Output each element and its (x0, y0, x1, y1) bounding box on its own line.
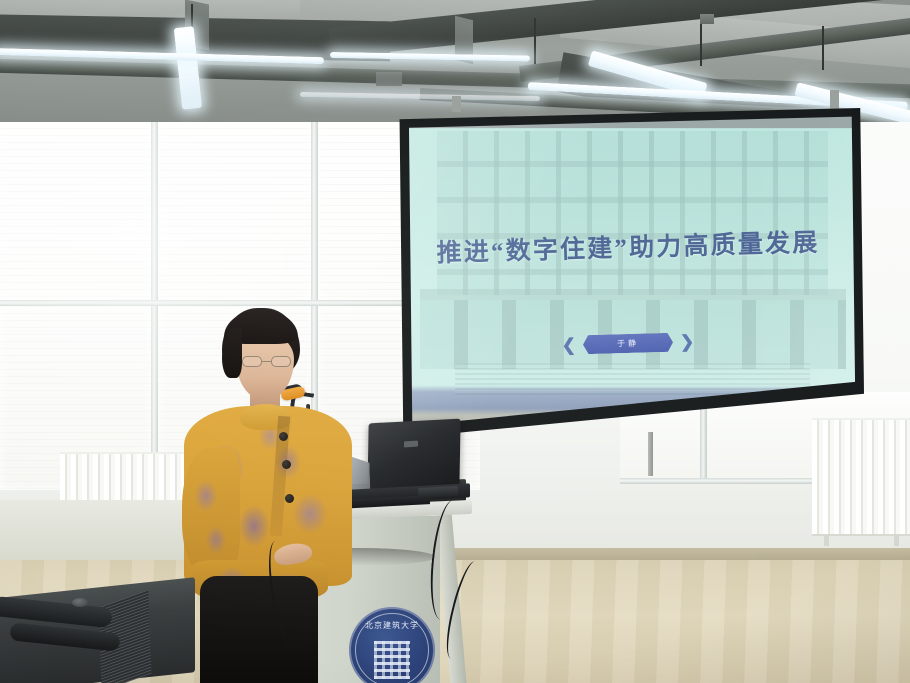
photo-scene: 推进“数字住建”助力高质量发展 ❮ 于静 ❯ 北京建筑大学 (0, 0, 910, 683)
building-facade (437, 131, 827, 295)
equipment-knob-icon (72, 598, 88, 607)
chevron-left-icon: ❮ (562, 337, 577, 354)
screen-bracket (830, 90, 839, 110)
ceiling-duct (700, 14, 714, 24)
light-hanger (534, 18, 536, 64)
jacket-button (282, 460, 291, 469)
chevron-right-icon: ❯ (680, 333, 695, 350)
emblem-mark (374, 641, 410, 679)
university-emblem: 北京建筑大学 (349, 607, 435, 683)
presenter (178, 308, 358, 683)
radiator (812, 418, 910, 536)
eyeglass-lens (242, 356, 262, 367)
jacket-button (285, 494, 294, 503)
eyeglass-lens (271, 356, 291, 367)
eyeglass-bridge (262, 361, 271, 362)
window-mullion (151, 100, 158, 490)
eyeglasses-icon (242, 356, 292, 367)
desk-device[interactable] (418, 486, 458, 498)
building-stairs (455, 363, 810, 395)
window-pane (158, 100, 312, 300)
jacket-button (279, 432, 288, 441)
projection-screen: 推进“数字住建”助力高质量发展 ❮ 于静 ❯ (392, 108, 864, 438)
radiator-foot (824, 534, 829, 546)
emblem-label: 北京建筑大学 (349, 620, 435, 631)
radiator-foot (894, 534, 899, 546)
presenter-arm (182, 448, 240, 576)
presenter-hair-side (222, 328, 242, 378)
screen-support-leg (648, 432, 653, 476)
presenter-name-banner: 于静 (583, 333, 673, 355)
ceiling-duct (376, 72, 402, 86)
window-pane (0, 100, 152, 300)
light-hanger (700, 24, 702, 66)
light-hanger (822, 26, 824, 70)
laptop-logo-icon (404, 441, 418, 448)
